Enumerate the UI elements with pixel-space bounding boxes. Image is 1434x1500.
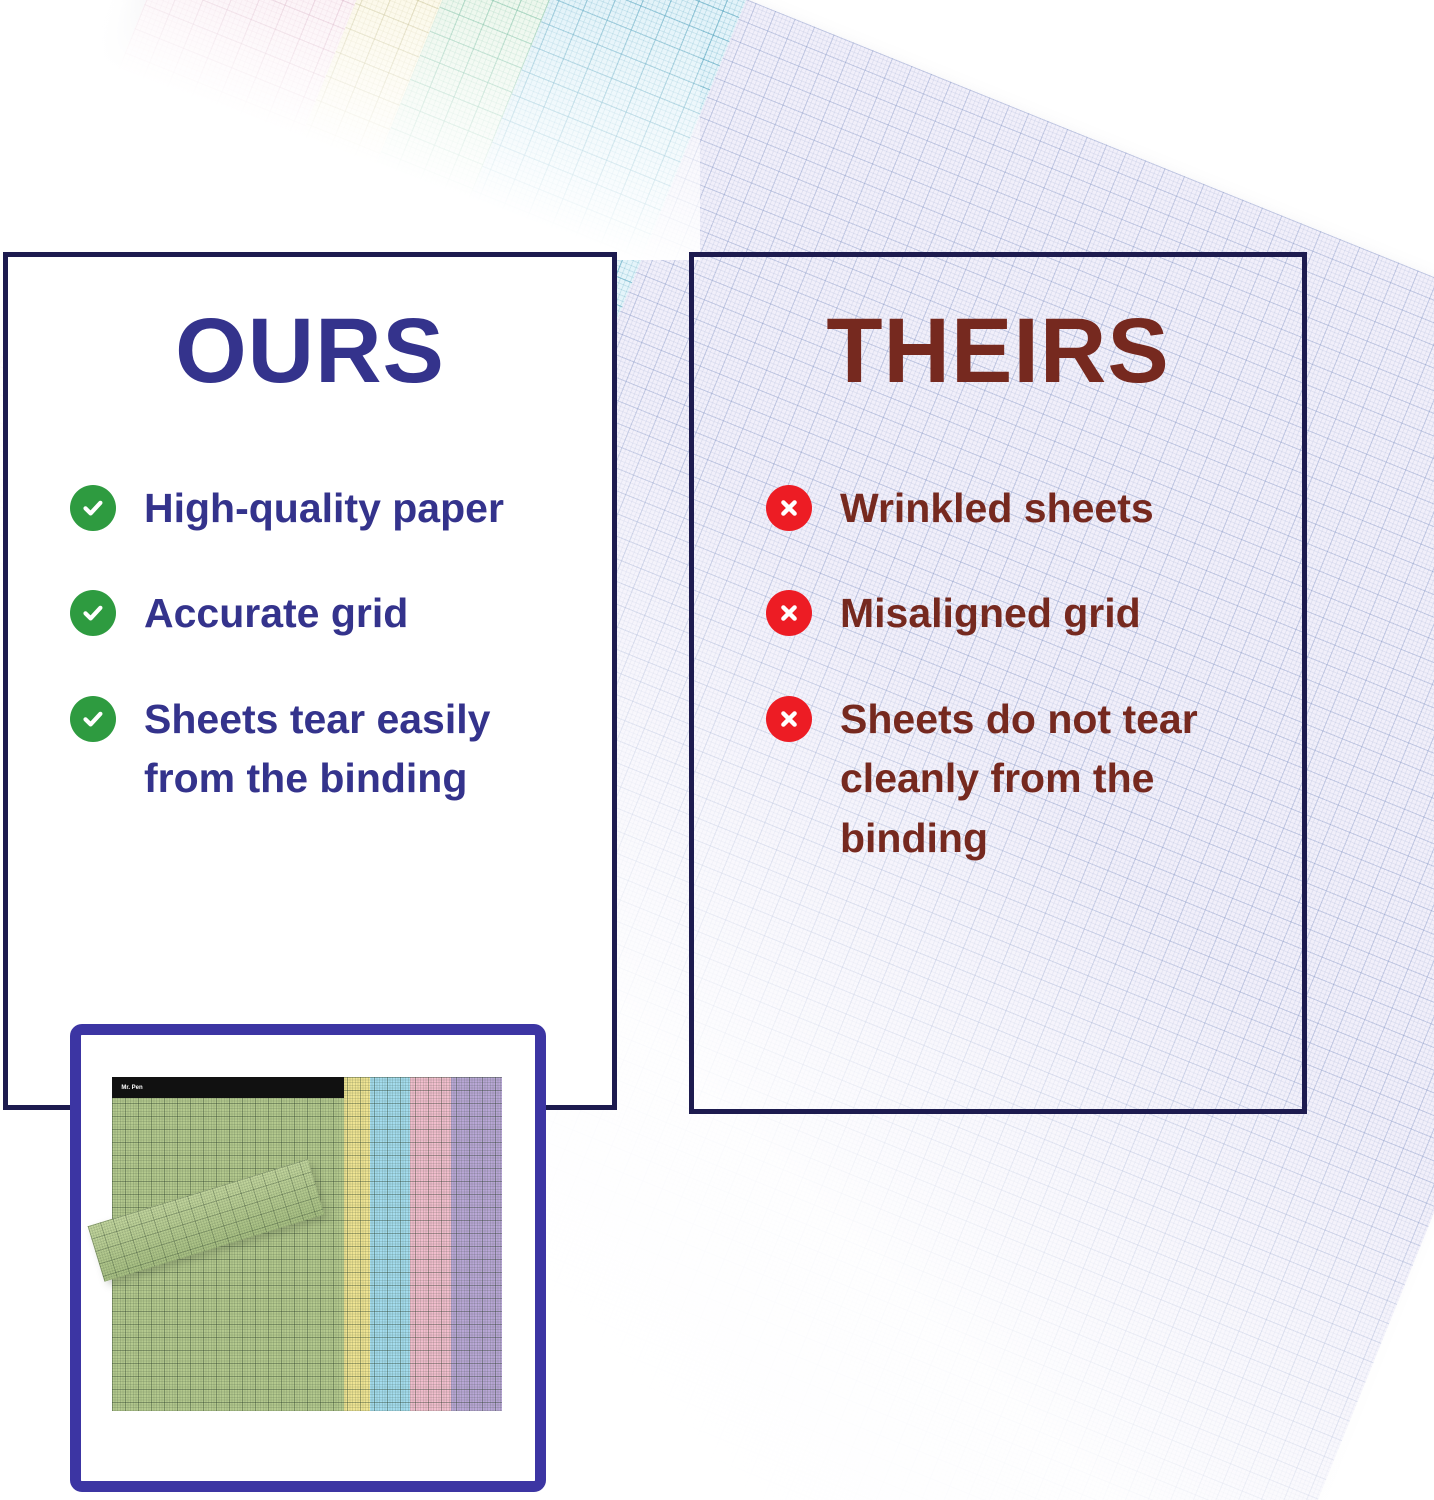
theirs-drawback-list: Wrinkled sheets Misaligned grid Sheets d… bbox=[694, 479, 1302, 914]
cross-circle-icon bbox=[766, 696, 812, 742]
check-circle-icon bbox=[70, 485, 116, 531]
check-circle-icon bbox=[70, 696, 116, 742]
product-photo-inset: Mr. Pen bbox=[70, 1024, 546, 1492]
check-circle-icon bbox=[70, 590, 116, 636]
pad-binding-strip: Mr. Pen bbox=[112, 1077, 344, 1098]
list-item-label: Wrinkled sheets bbox=[840, 479, 1154, 538]
list-item: Sheets tear easily from the binding bbox=[70, 690, 588, 809]
ours-heading: OURS bbox=[8, 305, 612, 397]
list-item-label: Sheets tear easily from the binding bbox=[144, 690, 564, 809]
graph-paper-pad-stack: Mr. Pen bbox=[112, 1077, 502, 1411]
ours-panel: OURS High-quality paper Accurate grid bbox=[3, 252, 617, 1110]
list-item-label: Accurate grid bbox=[144, 584, 408, 643]
list-item-label: High-quality paper bbox=[144, 479, 504, 538]
cross-circle-icon bbox=[766, 590, 812, 636]
comparison-infographic: OURS High-quality paper Accurate grid bbox=[0, 0, 1434, 1500]
list-item: Misaligned grid bbox=[766, 584, 1278, 643]
list-item-label: Misaligned grid bbox=[840, 584, 1141, 643]
theirs-heading: THEIRS bbox=[694, 305, 1302, 397]
product-photo: Mr. Pen bbox=[81, 1035, 535, 1481]
list-item: High-quality paper bbox=[70, 479, 588, 538]
list-item: Wrinkled sheets bbox=[766, 479, 1278, 538]
brand-logo-mark: Mr. Pen bbox=[119, 1080, 145, 1095]
list-item: Sheets do not tear cleanly from the bind… bbox=[766, 690, 1278, 868]
cross-circle-icon bbox=[766, 485, 812, 531]
list-item-label: Sheets do not tear cleanly from the bind… bbox=[840, 690, 1260, 868]
theirs-panel: THEIRS Wrinkled sheets Misaligned grid bbox=[689, 252, 1307, 1114]
ours-benefit-list: High-quality paper Accurate grid Sheets … bbox=[8, 479, 612, 855]
list-item: Accurate grid bbox=[70, 584, 588, 643]
